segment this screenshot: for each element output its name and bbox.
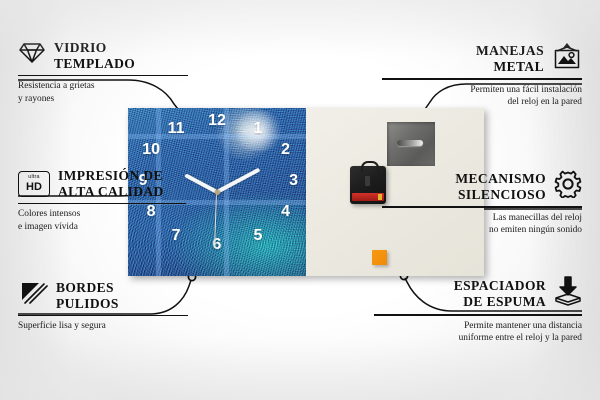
callout-title-line: ESPACIADOR [454, 278, 546, 294]
clock-numeral-11: 11 [168, 121, 185, 137]
callout-divider [18, 203, 186, 205]
callout-manejas-metal: MANEJAS METAL Permiten una fácil instala… [382, 42, 582, 109]
callout-description-line: del reloj en la pared [382, 96, 582, 109]
movement-battery [352, 193, 384, 201]
arrow-down-onto-foam-icon [554, 276, 582, 311]
hanging-picture-frame-icon [552, 42, 582, 75]
polished-edges-icon [18, 281, 48, 310]
callout-title: ESPACIADOR DE ESPUMA [454, 278, 546, 310]
callout-description-line: Resistencia a grietas [18, 80, 188, 93]
clock-numeral-10: 10 [142, 142, 160, 158]
callout-header: MECANISMO SILENCIOSO [382, 170, 582, 203]
callout-title-line: TEMPLADO [54, 56, 135, 72]
callout-divider [18, 315, 188, 317]
callout-divider [18, 75, 188, 77]
callout-title-line: SILENCIOSO [455, 187, 546, 203]
callout-header: MANEJAS METAL [382, 42, 582, 75]
callout-description: Permiten una fácil instalación del reloj… [382, 84, 582, 109]
ultra-hd-small-text: ultra [28, 175, 40, 180]
callout-description-line: Permite mantener una distancia [374, 320, 582, 333]
callout-title-line: MECANISMO [455, 171, 546, 187]
clock-numeral-5: 5 [253, 228, 262, 244]
ultra-hd-large-text: HD [26, 182, 42, 193]
movement-shaft [365, 176, 370, 186]
clock-numeral-2: 2 [281, 142, 290, 158]
callout-divider [382, 206, 582, 208]
foam-spacer [372, 250, 387, 265]
clock-numeral-4: 4 [281, 204, 290, 220]
ultra-hd-badge-icon: ultra HD [18, 171, 50, 197]
clock-center-cap [215, 190, 220, 195]
callout-description: Permite mantener una distancia uniforme … [374, 320, 582, 345]
gear-icon [554, 170, 582, 203]
callout-title: MECANISMO SILENCIOSO [455, 171, 546, 203]
callout-title: IMPRESIÓN DE ALTA CALIDAD [58, 168, 164, 200]
callout-espaciador-espuma: ESPACIADOR DE ESPUMA Permite mantener un… [374, 276, 582, 345]
callout-bordes-pulidos: BORDES PULIDOS Superficie lisa y segura [18, 280, 188, 333]
callout-impresion-alta-calidad: ultra HD IMPRESIÓN DE ALTA CALIDAD Color… [18, 168, 186, 234]
callout-vidrio-templado: VIDRIO TEMPLADO Resistencia a grietas y … [18, 40, 188, 106]
diamond-icon [18, 41, 46, 70]
callout-title-line: DE ESPUMA [454, 294, 546, 310]
callout-mecanismo-silencioso: MECANISMO SILENCIOSO Las manecillas del … [382, 170, 582, 237]
quartz-movement [350, 166, 386, 204]
callout-header: ultra HD IMPRESIÓN DE ALTA CALIDAD [18, 168, 186, 200]
callout-title: BORDES PULIDOS [56, 280, 119, 312]
callout-title: MANEJAS METAL [476, 43, 544, 75]
callout-header: ESPACIADOR DE ESPUMA [374, 276, 582, 311]
hanger-keyhole-slot [397, 140, 423, 146]
callout-description-line: Permiten una fácil instalación [382, 84, 582, 97]
clock-numeral-3: 3 [289, 173, 298, 189]
callout-title-line: IMPRESIÓN DE [58, 168, 164, 184]
callout-divider [382, 78, 582, 80]
callout-title-line: VIDRIO [54, 40, 135, 56]
callout-divider [374, 314, 582, 316]
callout-header: VIDRIO TEMPLADO [18, 40, 188, 72]
callout-title-line: MANEJAS [476, 43, 544, 59]
callout-description: Las manecillas del reloj no emiten ningú… [382, 212, 582, 237]
callout-description-line: Las manecillas del reloj [382, 212, 582, 225]
callout-description-line: e imagen vívida [18, 221, 186, 234]
metal-hanger-plate [387, 122, 435, 166]
callout-description-line: no emiten ningún sonido [382, 224, 582, 237]
callout-description: Superficie lisa y segura [18, 320, 188, 333]
callout-title-line: PULIDOS [56, 296, 119, 312]
callout-description-line: Colores intensos [18, 208, 186, 221]
clock-numeral-12: 12 [208, 113, 226, 129]
infographic-canvas: 12 1 2 3 4 5 6 7 8 9 10 11 [0, 0, 600, 400]
callout-description-line: Superficie lisa y segura [18, 320, 188, 333]
callout-title-line: BORDES [56, 280, 119, 296]
callout-description: Colores intensos e imagen vívida [18, 208, 186, 233]
callout-description-line: uniforme entre el reloj y la pared [374, 332, 582, 345]
callout-description-line: y rayones [18, 93, 188, 106]
movement-hanger-loop [361, 161, 379, 172]
callout-header: BORDES PULIDOS [18, 280, 188, 312]
callout-title-line: METAL [476, 59, 544, 75]
clock-numeral-1: 1 [253, 121, 262, 137]
callout-title-line: ALTA CALIDAD [58, 184, 164, 200]
callout-description: Resistencia a grietas y rayones [18, 80, 188, 105]
callout-title: VIDRIO TEMPLADO [54, 40, 135, 72]
